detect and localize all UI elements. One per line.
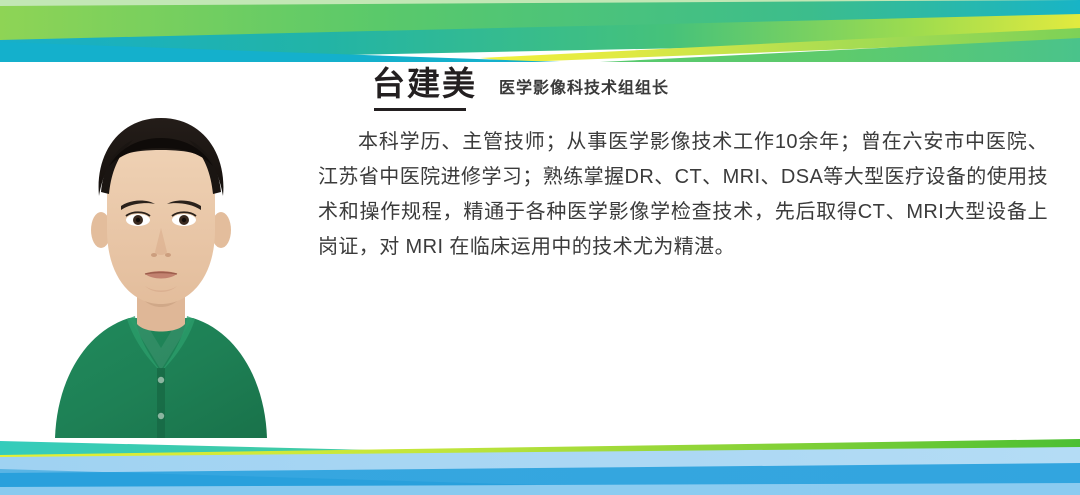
doctor-profile-card: 台建美 医学影像科技术组组长 本科学历、主管技师；从事医学影像技术工作10余年；… xyxy=(0,0,1080,495)
name-underline-rule xyxy=(374,108,466,111)
name-row: 台建美 医学影像科技术组组长 xyxy=(318,66,1048,102)
doctor-title: 医学影像科技术组组长 xyxy=(499,74,669,102)
doctor-portrait-photo xyxy=(37,80,285,438)
doctor-info-block: 台建美 医学影像科技术组组长 本科学历、主管技师；从事医学影像技术工作10余年；… xyxy=(318,66,1048,265)
doctor-name: 台建美 xyxy=(372,66,477,102)
top-wave-decoration xyxy=(0,0,1080,62)
bottom-wave-decoration xyxy=(0,433,1080,495)
doctor-bio-text: 本科学历、主管技师；从事医学影像技术工作10余年；曾在六安市中医院、江苏省中医院… xyxy=(318,125,1048,265)
